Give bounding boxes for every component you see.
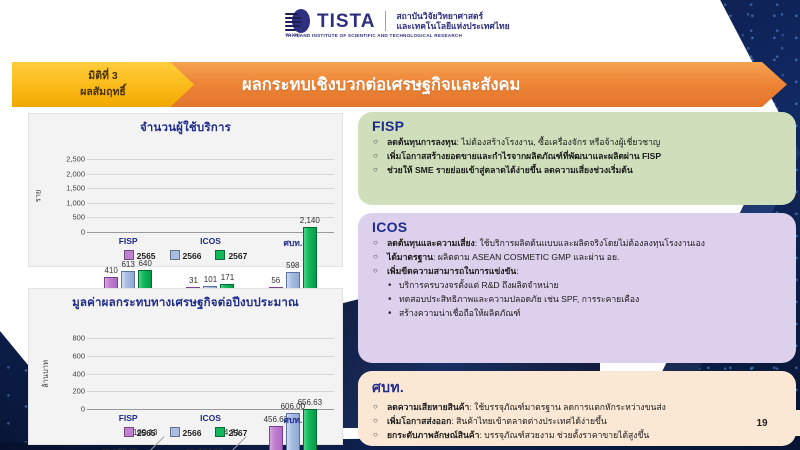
panel-bullet-lead: ยกระดับภาพลักษณ์สินค้า: [387, 430, 479, 440]
header-banner: ผลกระทบเชิงบวกต่อเศรษฐกิจและสังคม มิติที…: [12, 62, 787, 107]
legend-swatch-icon: [215, 427, 225, 437]
y-axis-tick-label: 2,000: [66, 169, 85, 178]
dimension-label-line-1: มิติที่ 3: [88, 69, 117, 84]
legend-item[interactable]: 2565: [124, 427, 156, 438]
panel-bullet-lead: ช่วยให้ SME รายย่อยเข้าสู่ตลาดได้ง่ายขึ้…: [387, 165, 633, 175]
legend-item[interactable]: 2566: [170, 427, 202, 438]
y-axis-tick-label: 0: [81, 228, 85, 237]
panel-sbt: ศบท. ลดความเสียหายสินค้า: ใช้บรรจุภัณฑ์ม…: [358, 371, 796, 446]
panel-heading: ศบท.: [372, 377, 786, 399]
y-axis-label: ราย: [32, 189, 44, 202]
chart-legend: 256525662567: [29, 250, 342, 261]
bar-value-label: 656.63: [298, 398, 322, 407]
panel-sub-list: บริการครบวงจรตั้งแต่ R&D ถึงผลิตจำหน่ายท…: [386, 279, 786, 321]
bar-value-label: 101: [204, 275, 217, 284]
panel-heading: FISP: [372, 118, 786, 134]
panel-bullet: ยกระดับภาพลักษณ์สินค้า: บรรจุภัณฑ์สวยงาม…: [372, 429, 786, 443]
legend-swatch-icon: [124, 427, 134, 437]
panel-icos: ICOS ลดต้นทุนและความเสี่ยง: ใช้บริการผลิ…: [358, 213, 796, 363]
chart-plot-area: ล้านบาท020040060080095.9599.05109.1389.6…: [29, 312, 342, 450]
legend-label: 2567: [228, 428, 247, 438]
panel-bullet-list: ลดต้นทุนการลงทุน: ไม่ต้องสร้างโรงงาน, ซื…: [372, 136, 786, 178]
bar: 598: [286, 272, 300, 289]
legend-swatch-icon: [170, 427, 180, 437]
legend-item[interactable]: 2567: [215, 427, 247, 438]
bar-series-container: 41061364031101171565982,140: [87, 137, 334, 289]
bar-value-label: 2,140: [300, 216, 320, 225]
panel-bullet-rest: : ผลิตตาม ASEAN COSMETIC GMP และผ่าน อย.: [433, 252, 619, 262]
panel-sub-bullet: สร้างความน่าเชื่อถือให้ผลิตภัณฑ์: [386, 307, 786, 321]
panel-bullet: ลดต้นทุนและความเสี่ยง: ใช้บริการผลิตต้นแ…: [372, 237, 786, 251]
y-axis-tick-label: 500: [72, 213, 85, 222]
label-leader-line: [146, 436, 165, 450]
legend-item[interactable]: 2567: [215, 250, 247, 261]
chart-plot-area: ราย05001,0001,5002,0002,5004106136403110…: [29, 137, 342, 289]
tistr-logo: TISTA สถาบันวิจัยวิทยาศาสตร์ และเทคโนโลย…: [285, 8, 510, 34]
dimension-label-line-2: ผลสัมฤทธิ์: [80, 85, 126, 100]
x-axis-category-label: ICOS: [169, 236, 251, 246]
panel-bullet-rest: : ใช้บรรจุภัณฑ์มาตรฐาน ลดการแตกหักระหว่า…: [469, 402, 665, 412]
bar: 613: [121, 271, 135, 289]
logo-wordmark: TISTA: [317, 12, 375, 31]
logo-english-subtitle: THAILAND INSTITUTE OF SCIENTIFIC AND TEC…: [285, 33, 462, 38]
bar-value-label: 613: [121, 260, 134, 269]
bar-value-label: 598: [286, 261, 299, 270]
panel-bullet: เพิ่มโอกาสสร้างยอดขายและกำไรจากผลิตภัณฑ์…: [372, 150, 786, 164]
panel-bullet-lead: ลดความเสียหายสินค้า: [387, 402, 469, 412]
page-number-badge: 19: [724, 410, 800, 436]
panel-bullet-lead: เพิ่มโอกาสส่งออก: [387, 416, 451, 426]
logo-thai-line-2: และเทคโนโลยีแห่งประเทศไทย: [396, 21, 509, 31]
chart-title: มูลค่าผลกระทบทางเศรษฐกิจต่อปีงบประมาณ: [29, 289, 342, 312]
legend-item[interactable]: 2566: [170, 250, 202, 261]
x-axis-category-label: ICOS: [169, 413, 251, 423]
panel-sub-bullet: ทดสอบประสิทธิภาพและความปลอดภัย เช่น SPF,…: [386, 293, 786, 307]
chart-title: จำนวนผู้ใช้บริการ: [29, 114, 342, 137]
logo-divider: [385, 11, 386, 31]
banner-title-arrow: ผลกระทบเชิงบวกต่อเศรษฐกิจและสังคม: [162, 62, 787, 107]
panel-bullet-rest: : ใช้บริการผลิตต้นแบบและผลิตจริงโดยไม่ต้…: [475, 238, 705, 248]
y-axis-tick-label: 200: [72, 387, 85, 396]
panel-heading: ICOS: [372, 219, 786, 235]
chart-card-users: จำนวนผู้ใช้บริการ ราย05001,0001,5002,000…: [28, 113, 343, 267]
panel-bullet-rest: :: [516, 266, 518, 276]
bar-group: 95.9599.05109.13: [87, 370, 169, 450]
bar-group: 89.6104.12114.71: [169, 370, 251, 450]
panel-bullet: ช่วยให้ SME รายย่อยเข้าสู่ตลาดได้ง่ายขึ้…: [372, 164, 786, 178]
page-title: ผลกระทบเชิงบวกต่อเศรษฐกิจและสังคม: [242, 72, 520, 98]
panel-bullet-lead: ลดต้นทุนและความเสี่ยง: [387, 238, 475, 248]
y-axis-tick-label: 1,000: [66, 198, 85, 207]
slide-root: TISTA สถาบันวิจัยวิทยาศาสตร์ และเทคโนโลย…: [0, 0, 800, 450]
legend-swatch-icon: [170, 250, 180, 260]
x-axis-category-label: ศบท.: [252, 236, 334, 250]
legend-swatch-icon: [124, 250, 134, 260]
panel-bullet: เพิ่มขีดความสามารถในการแข่งขัน:: [372, 265, 786, 279]
legend-label: 2565: [137, 428, 156, 438]
chart-card-economic-value: มูลค่าผลกระทบทางเศรษฐกิจต่อปีงบประมาณ ล้…: [28, 288, 343, 445]
x-axis-category-label: FISP: [87, 413, 169, 423]
panel-bullet-rest: : สินค้าไทยเข้าตลาดต่างประเทศได้ง่ายขึ้น: [451, 416, 606, 426]
legend-item[interactable]: 2565: [124, 250, 156, 261]
bar-value-label: 171: [221, 273, 234, 282]
panel-bullet: ลดความเสียหายสินค้า: ใช้บรรจุภัณฑ์มาตรฐา…: [372, 401, 786, 415]
x-axis-category-label: FISP: [87, 236, 169, 246]
y-axis-tick-label: 0: [81, 405, 85, 414]
panel-bullet: ได้มาตรฐาน: ผลิตตาม ASEAN COSMETIC GMP แ…: [372, 251, 786, 265]
panel-bullet-lead: ได้มาตรฐาน: [387, 252, 433, 262]
y-axis-tick-label: 2,500: [66, 155, 85, 164]
panel-bullet-lead: เพิ่มขีดความสามารถในการแข่งขัน: [387, 266, 516, 276]
legend-label: 2566: [183, 428, 202, 438]
bar: 640: [138, 270, 152, 289]
panel-bullet-lead: เพิ่มโอกาสสร้างยอดขายและกำไรจากผลิตภัณฑ์…: [387, 151, 661, 161]
bar-value-label: 410: [104, 266, 117, 275]
banner-dimension-tab[interactable]: มิติที่ 3 ผลสัมฤทธิ์: [12, 62, 194, 107]
bar-value-label: 31: [189, 276, 198, 285]
logo-thai-line-1: สถาบันวิจัยวิทยาศาสตร์: [396, 11, 509, 21]
y-axis-tick-label: 1,500: [66, 184, 85, 193]
y-axis-tick-label: 600: [72, 351, 85, 360]
panel-bullet-lead: ลดต้นทุนการลงทุน: [387, 137, 457, 147]
panel-bullet-rest: : ไม่ต้องสร้างโรงงาน, ซื้อเครื่องจักร หร…: [457, 137, 661, 147]
y-axis-tick-label: 800: [72, 334, 85, 343]
chart-legend: 256525662567: [29, 427, 342, 438]
legend-label: 2567: [228, 251, 247, 261]
panel-bullet-list: ลดความเสียหายสินค้า: ใช้บรรจุภัณฑ์มาตรฐา…: [372, 401, 786, 443]
legend-swatch-icon: [215, 250, 225, 260]
panel-bullet: ลดต้นทุนการลงทุน: ไม่ต้องสร้างโรงงาน, ซื…: [372, 136, 786, 150]
legend-label: 2565: [137, 251, 156, 261]
x-axis-category-label: ศบท.: [252, 413, 334, 427]
panel-bullet-rest: : บรรจุภัณฑ์สวยงาม ช่วยตั้งราคาขายได้สูง…: [479, 430, 649, 440]
y-axis-tick-label: 400: [72, 369, 85, 378]
y-axis: 05001,0001,5002,0002,500: [55, 137, 85, 289]
y-axis-label: ล้านบาท: [40, 360, 52, 388]
panel-fisp: FISP ลดต้นทุนการลงทุน: ไม่ต้องสร้างโรงงา…: [358, 112, 796, 205]
panel-bullet: เพิ่มโอกาสส่งออก: สินค้าไทยเข้าตลาดต่างป…: [372, 415, 786, 429]
bar-group: 456.63606.00656.63: [252, 370, 334, 450]
panel-sub-bullet: บริการครบวงจรตั้งแต่ R&D ถึงผลิตจำหน่าย: [386, 279, 786, 293]
legend-label: 2566: [183, 251, 202, 261]
panel-bullet-list: ลดต้นทุนและความเสี่ยง: ใช้บริการผลิตต้นแ…: [372, 237, 786, 321]
bar-value-label: 56: [271, 276, 280, 285]
